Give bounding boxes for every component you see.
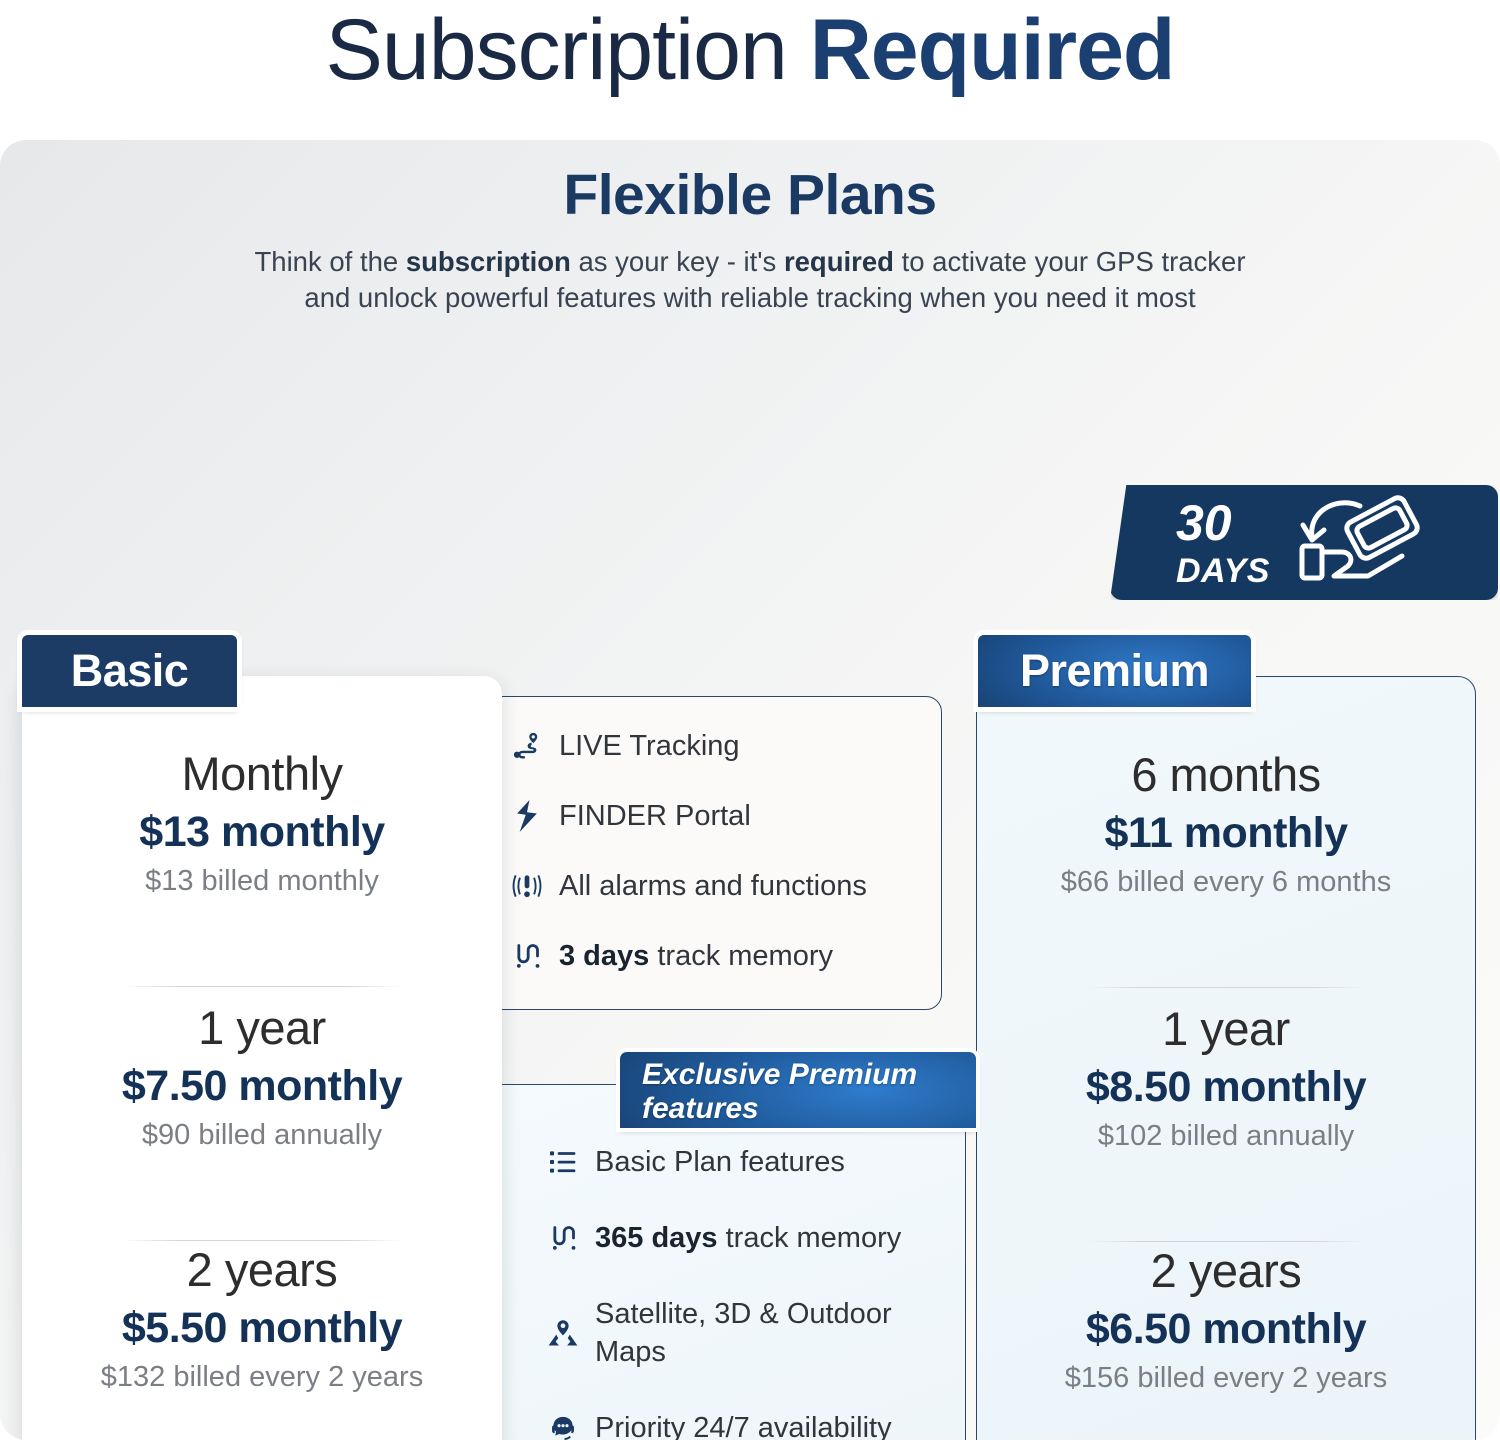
feature-finder-portal-label: FINDER Portal <box>559 797 751 835</box>
list-bullets-icon <box>543 1150 583 1174</box>
route-tracking-icon <box>507 731 547 761</box>
feature-maps: Satellite, 3D & Outdoor Maps <box>543 1295 963 1371</box>
feature-track-memory-premium: 365 days track memory <box>543 1219 963 1257</box>
desc-pre: Think of the <box>254 246 405 277</box>
money-back-device-return-icon <box>1298 494 1430 591</box>
premium-tier-2-name: 2 years <box>977 1243 1475 1299</box>
basic-tier-2-price: $5.50 monthly <box>22 1302 502 1354</box>
alarm-siren-icon <box>507 873 547 899</box>
premium-tier-1-price: $8.50 monthly <box>977 1061 1475 1113</box>
basic-tier-0-billed: $13 billed monthly <box>22 862 502 900</box>
page-title-bold: Required <box>810 2 1175 98</box>
plans-panel: Flexible Plans Think of the subscription… <box>0 140 1500 1440</box>
guarantee-days-number: 30 <box>1176 498 1270 548</box>
basic-separator-1 <box>122 986 402 987</box>
feature-live-tracking: LIVE Tracking <box>507 727 927 765</box>
basic-tier-1-billed: $90 billed annually <box>22 1116 502 1154</box>
tab-premium-label: Premium <box>1020 645 1209 697</box>
feature-track-memory-basic-label: All alarms and functions <box>559 867 867 905</box>
premium-tier-2-price: $6.50 monthly <box>977 1303 1475 1355</box>
premium-tier-1-billed: $102 billed annually <box>977 1117 1475 1155</box>
basic-track-memory-suffix: track memory <box>649 940 833 972</box>
basic-tier-2years: 2 years $5.50 monthly $132 billed every … <box>22 1242 502 1396</box>
map-pin-terrain-icon <box>543 1319 583 1347</box>
guarantee-days-unit: DAYS <box>1176 554 1270 588</box>
premium-tier-1-name: 1 year <box>977 1001 1475 1057</box>
premium-tier-1year: 1 year $8.50 monthly $102 billed annuall… <box>977 1001 1475 1155</box>
basic-tier-2-name: 2 years <box>22 1242 502 1298</box>
premium-tier-0-name: 6 months <box>977 747 1475 803</box>
page-title: Subscription Required <box>0 0 1500 106</box>
track-memory-icon <box>507 942 547 970</box>
premium-tier-2-billed: $156 billed every 2 years <box>977 1359 1475 1397</box>
feature-priority-support-label: Priority 24/7 availability <box>595 1409 892 1440</box>
basic-tier-1-name: 1 year <box>22 1000 502 1056</box>
support-headset-icon <box>543 1414 583 1440</box>
basic-features-box: LIVE Tracking FINDER Portal <box>430 696 942 1010</box>
tab-premium[interactable]: Premium <box>978 635 1251 707</box>
page-title-light: Subscription <box>326 2 810 98</box>
feature-track-memory-basic-bold: All alarms and functions <box>559 870 867 902</box>
basic-tier-0-price: $13 monthly <box>22 806 502 858</box>
basic-track-memory-days: 3 days <box>559 940 649 972</box>
feature-live-tracking-label: LIVE Tracking <box>559 727 740 765</box>
feature-finder-portal: FINDER Portal <box>507 797 927 835</box>
premium-track-memory-days: 365 days <box>595 1222 718 1254</box>
premium-separator-2 <box>1087 1241 1367 1242</box>
basic-tier-monthly: Monthly $13 monthly $13 billed monthly <box>22 746 502 900</box>
panel-description: Think of the subscription as your key - … <box>250 244 1250 316</box>
feature-basic-plan-features-label: Basic Plan features <box>595 1143 845 1181</box>
tab-basic[interactable]: Basic <box>22 635 237 707</box>
basic-tier-1-price: $7.50 monthly <box>22 1060 502 1112</box>
premium-track-memory-suffix: track memory <box>718 1222 902 1254</box>
premium-tier-6months: 6 months $11 monthly $66 billed every 6 … <box>977 747 1475 901</box>
basic-plan-card[interactable]: Monthly $13 monthly $13 billed monthly 1… <box>22 676 502 1440</box>
panel-title: Flexible Plans <box>0 162 1500 228</box>
basic-tier-1year: 1 year $7.50 monthly $90 billed annually <box>22 1000 502 1154</box>
basic-separator-2 <box>122 1240 402 1241</box>
tab-basic-label: Basic <box>71 645 189 697</box>
basic-tier-2-billed: $132 billed every 2 years <box>22 1358 502 1396</box>
desc-bold-required: required <box>784 246 894 277</box>
premium-separator-1 <box>1087 987 1367 988</box>
premium-tier-0-price: $11 monthly <box>977 807 1475 859</box>
feature-basic-plan-features: Basic Plan features <box>543 1143 963 1181</box>
premium-plan-card[interactable]: 6 months $11 monthly $66 billed every 6 … <box>976 676 1476 1440</box>
premium-tier-2years: 2 years $6.50 monthly $156 billed every … <box>977 1243 1475 1397</box>
ribbon-line-2: features <box>642 1092 976 1126</box>
exclusive-premium-features-ribbon: Exclusive Premium features <box>620 1052 976 1128</box>
basic-tier-0-name: Monthly <box>22 746 502 802</box>
premium-features-box: Basic Plan features 365 days track memor… <box>446 1084 966 1440</box>
ribbon-line-1: Exclusive Premium <box>642 1058 976 1092</box>
desc-bold-subscription: subscription <box>406 246 571 277</box>
feature-track-memory-basic: 3 days track memory <box>507 937 927 975</box>
money-back-guarantee-badge: 30 DAYS <box>1110 485 1498 600</box>
feature-priority-support: Priority 24/7 availability <box>543 1409 963 1440</box>
track-memory-icon <box>543 1224 583 1252</box>
finder-bolt-icon <box>507 800 547 832</box>
feature-all-alarms: All alarms and functions <box>507 867 927 905</box>
desc-mid: as your key - it's <box>571 246 784 277</box>
premium-tier-0-billed: $66 billed every 6 months <box>977 863 1475 901</box>
feature-maps-label: Satellite, 3D & Outdoor Maps <box>595 1295 963 1371</box>
